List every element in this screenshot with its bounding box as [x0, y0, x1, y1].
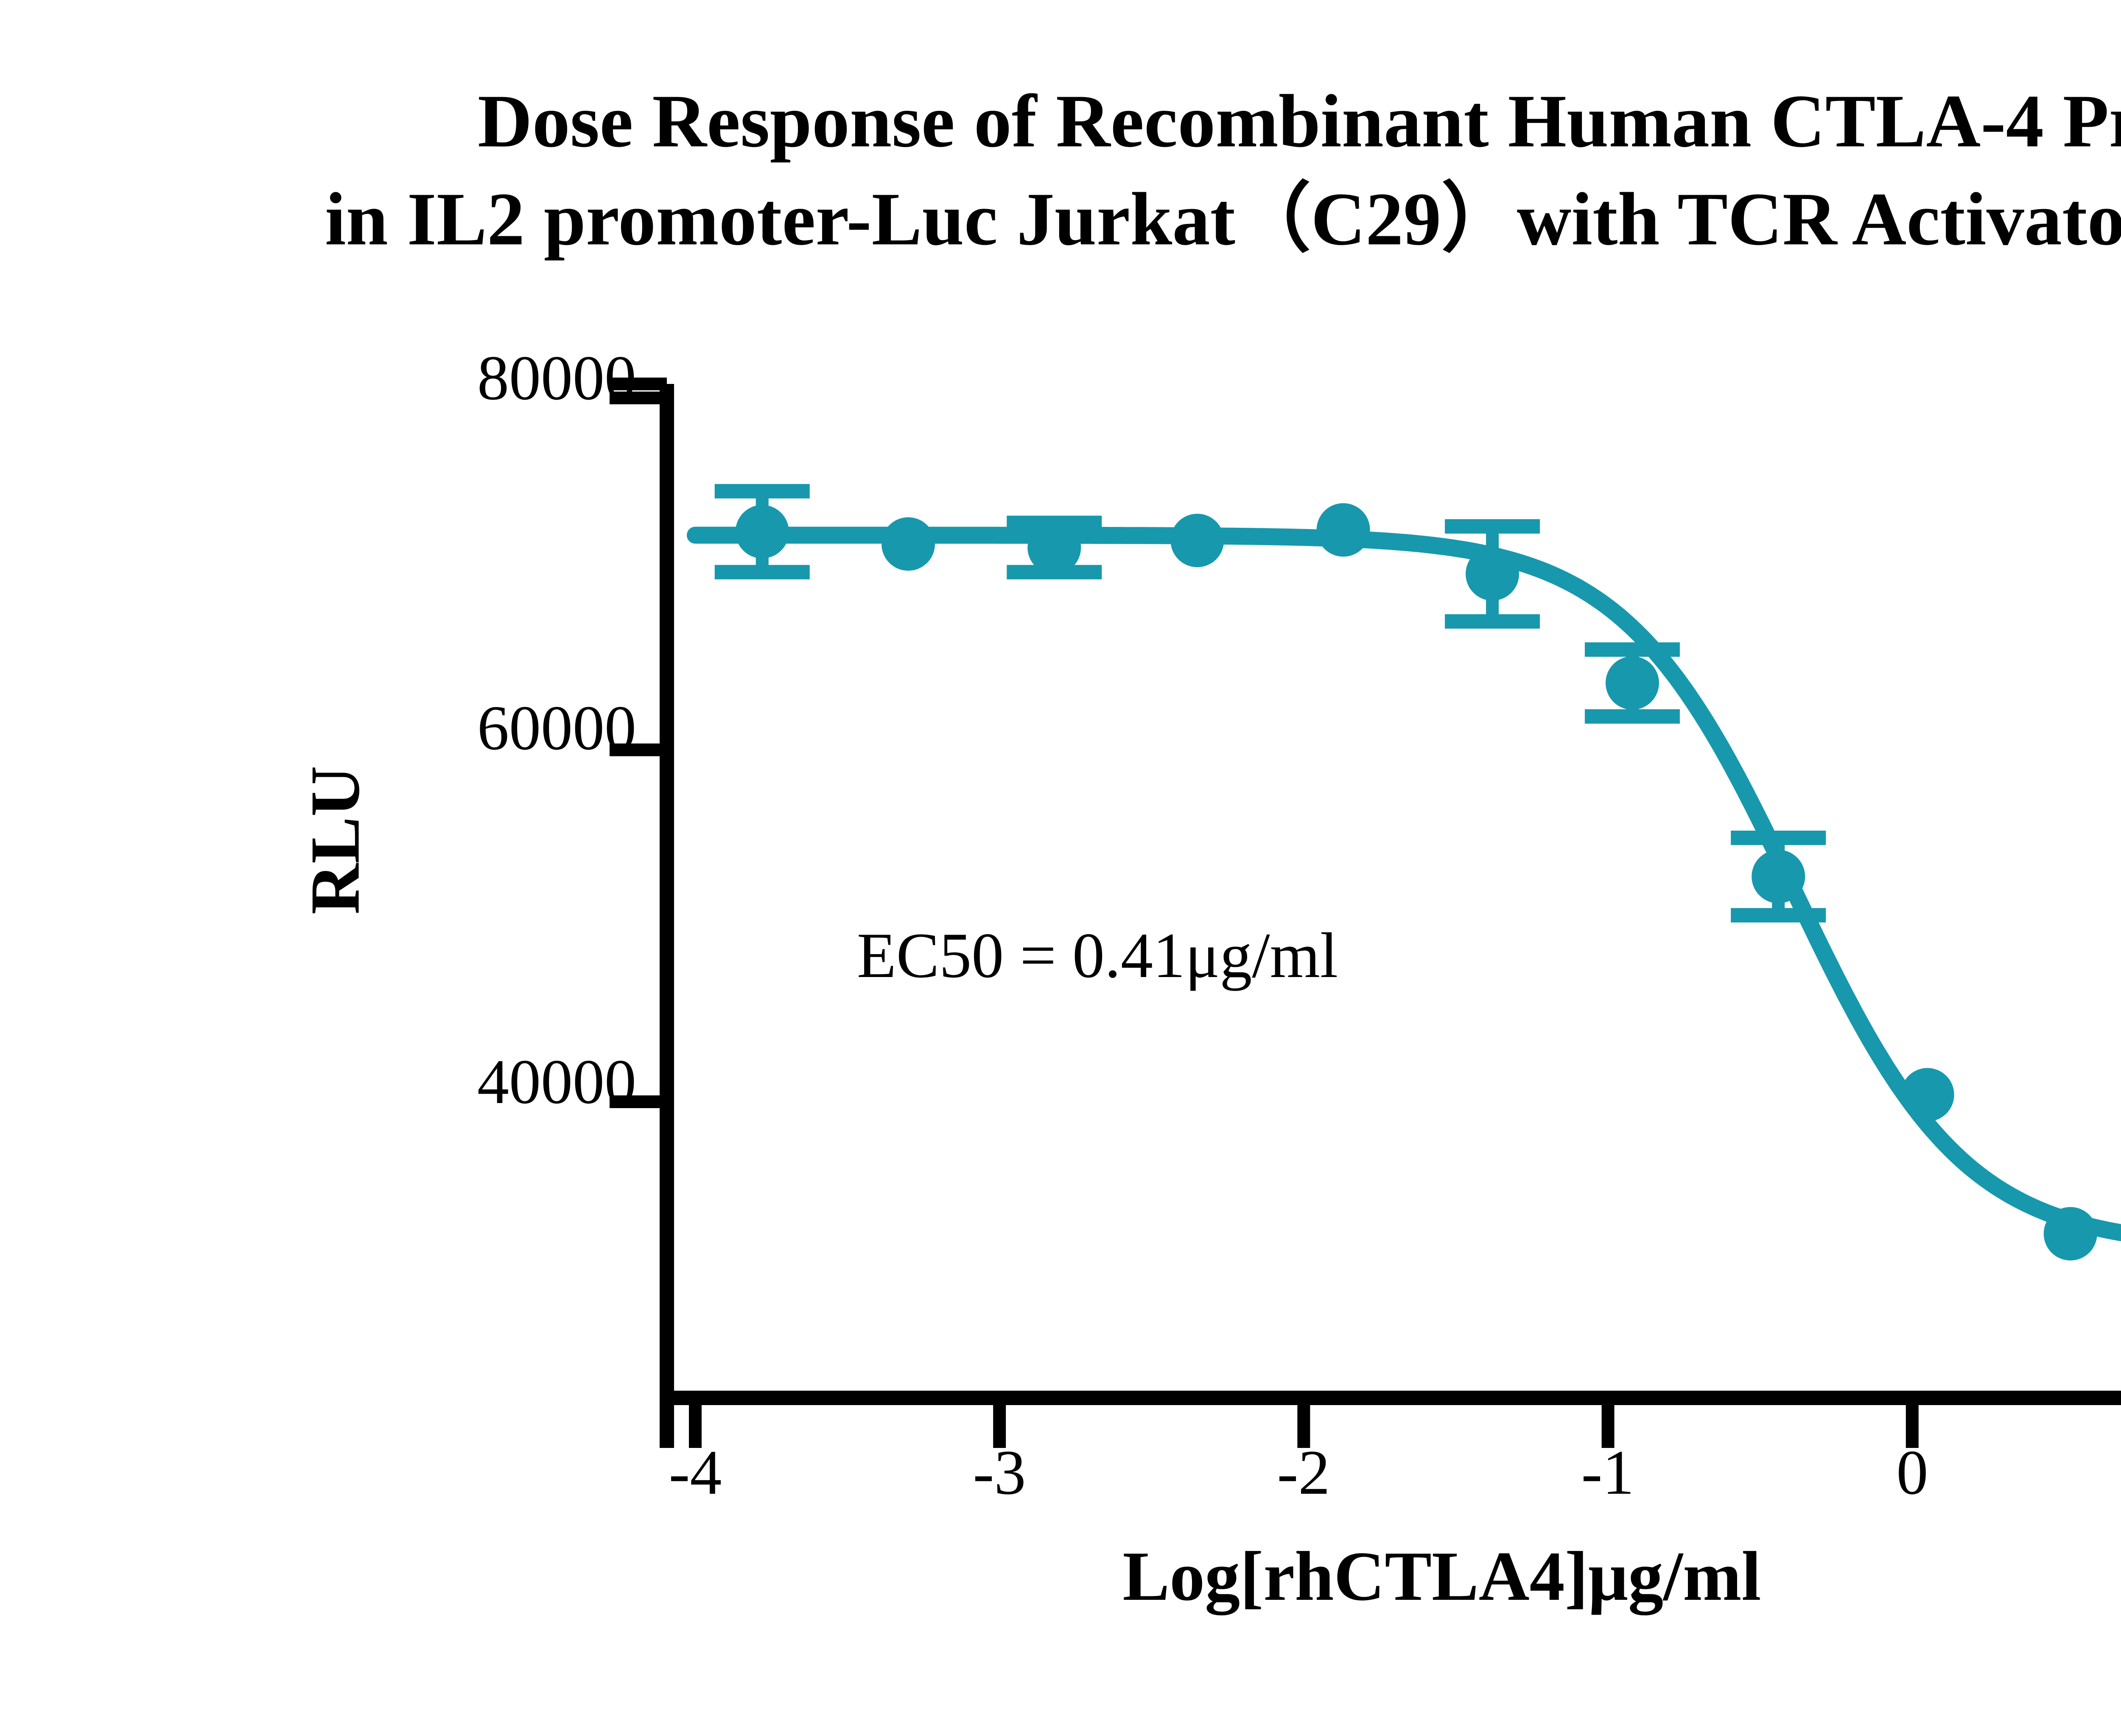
series-fit-line [695, 535, 2121, 1243]
fit-curve [695, 535, 2121, 1243]
data-points [736, 503, 2121, 1269]
data-point [1027, 521, 1081, 574]
data-point [1606, 656, 1659, 710]
data-point [1901, 1068, 1954, 1121]
data-point [1466, 547, 1519, 601]
data-point [1317, 503, 1370, 557]
data-point [2044, 1207, 2097, 1260]
data-point [736, 505, 789, 558]
error-bars [715, 491, 1826, 916]
data-point [881, 517, 935, 571]
chart-root: Dose Response of Recombinant Human CTLA-… [0, 0, 2121, 1736]
data-point [1170, 514, 1224, 567]
data-point [1752, 850, 1805, 903]
y-tick-marks [610, 384, 667, 1102]
plot-canvas [0, 0, 2121, 1736]
x-tick-marks [695, 1398, 2121, 1448]
